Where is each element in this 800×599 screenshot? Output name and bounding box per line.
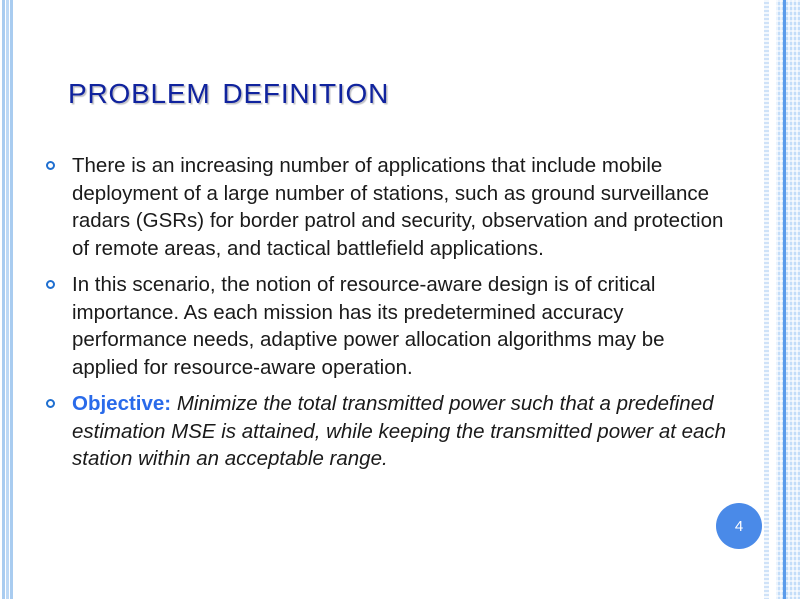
list-item-text: There is an increasing number of applica…	[72, 152, 736, 262]
right-stripe-wide	[776, 0, 800, 599]
slide-title: Problem Definition	[68, 68, 389, 113]
hollow-circle-bullet-icon	[46, 152, 72, 170]
slide-canvas: Problem Definition There is an increasin…	[0, 0, 800, 599]
slide-body: There is an increasing number of applica…	[46, 152, 736, 482]
list-item-text: In this scenario, the notion of resource…	[72, 271, 736, 381]
objective-label: Objective:	[72, 392, 171, 415]
list-item-text: Objective: Minimize the total transmitte…	[72, 390, 736, 473]
right-stripe-thin	[764, 0, 769, 599]
list-item: There is an increasing number of applica…	[46, 152, 736, 262]
right-decorative-stripe-band	[764, 0, 800, 599]
hollow-circle-bullet-icon	[46, 390, 72, 408]
list-item-objective: Objective: Minimize the total transmitte…	[46, 390, 736, 473]
hollow-circle-bullet-icon	[46, 271, 72, 289]
objective-statement: Minimize the total transmitted power suc…	[72, 392, 726, 470]
page-number-badge: 4	[716, 503, 762, 549]
list-item: In this scenario, the notion of resource…	[46, 271, 736, 381]
left-decorative-stripe-band	[0, 0, 16, 599]
